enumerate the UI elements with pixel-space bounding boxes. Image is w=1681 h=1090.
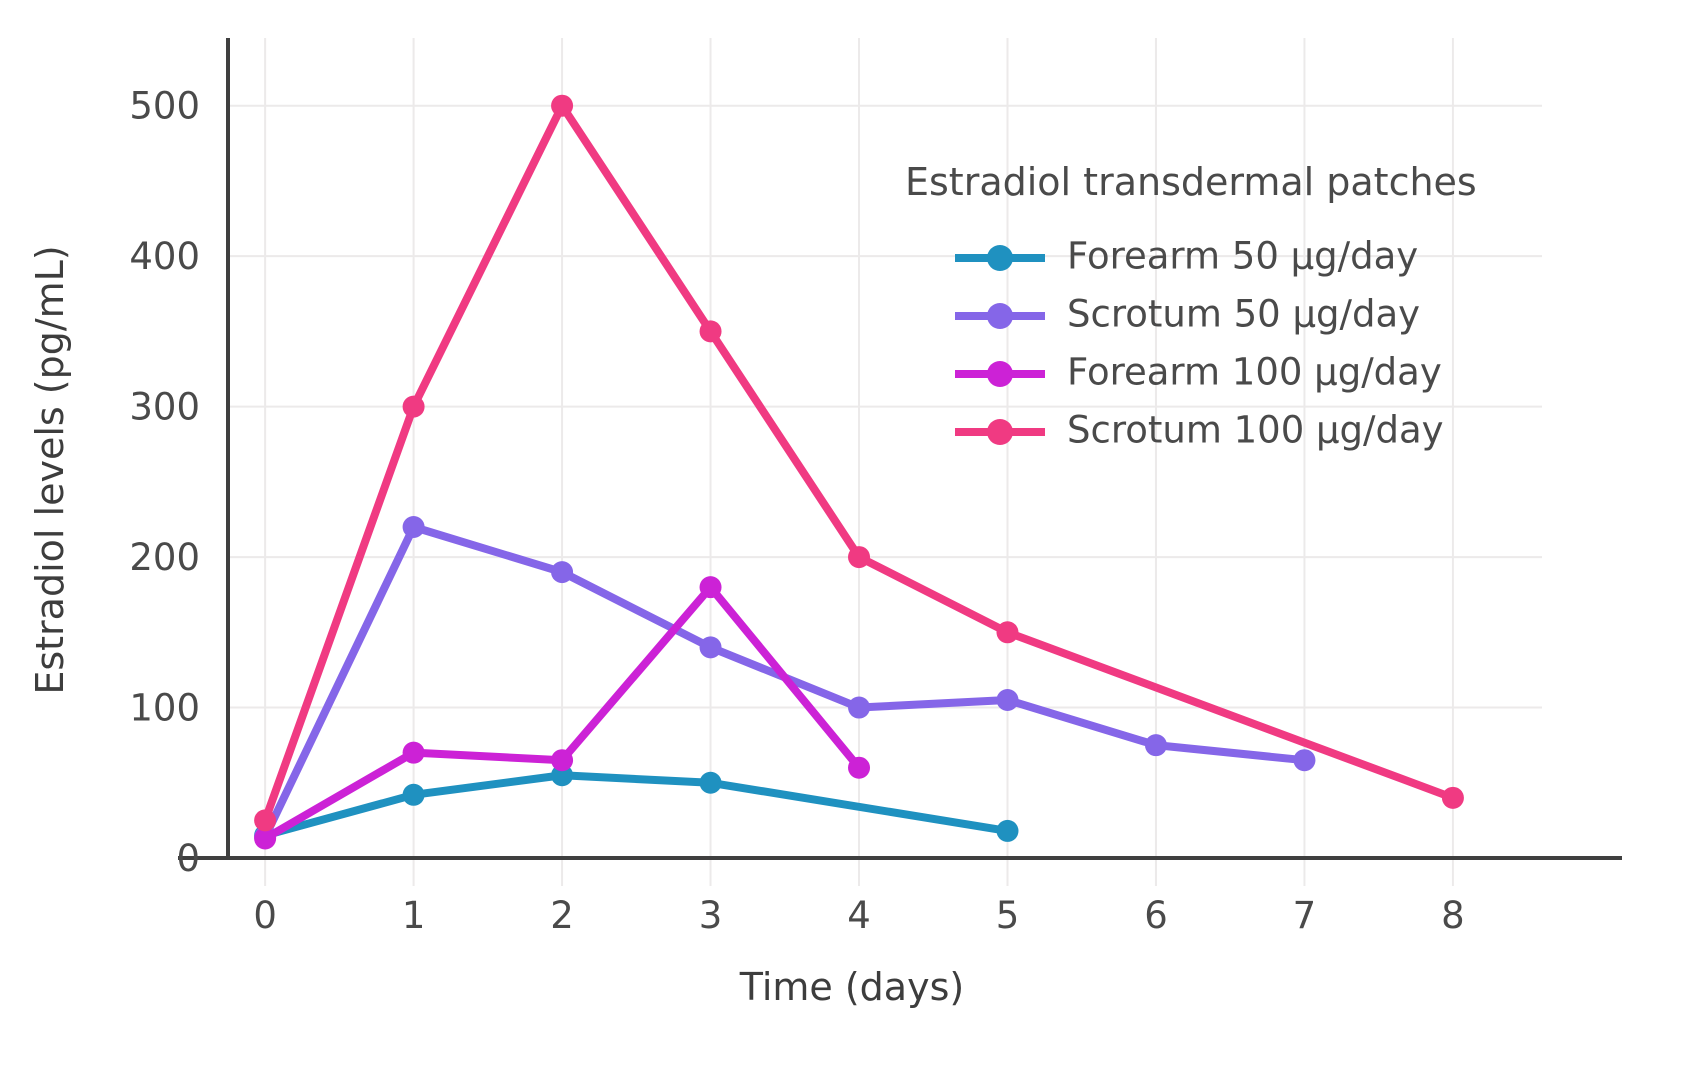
legend-label: Forearm 100 µg/day bbox=[1067, 351, 1442, 394]
legend-marker-swatch bbox=[987, 419, 1013, 445]
x-tick-label: 4 bbox=[847, 894, 871, 937]
x-tick-label: 2 bbox=[550, 894, 574, 937]
y-tick-label: 0 bbox=[176, 837, 200, 880]
x-tick-labels: 012345678 bbox=[253, 894, 1464, 937]
data-point-marker bbox=[996, 689, 1018, 711]
data-point-marker bbox=[700, 320, 722, 342]
legend-label: Scrotum 50 µg/day bbox=[1067, 293, 1420, 336]
data-point-marker bbox=[551, 749, 573, 771]
x-axis-title: Time (days) bbox=[739, 965, 964, 1009]
legend-entry[interactable]: Scrotum 100 µg/day bbox=[955, 409, 1444, 452]
data-point-marker bbox=[700, 636, 722, 658]
y-tick-label: 300 bbox=[129, 386, 200, 429]
series-line bbox=[265, 775, 1007, 835]
data-point-marker bbox=[403, 516, 425, 538]
legend-entry[interactable]: Forearm 100 µg/day bbox=[955, 351, 1442, 394]
x-tick-label: 3 bbox=[699, 894, 723, 937]
data-point-marker bbox=[403, 396, 425, 418]
y-tick-label: 200 bbox=[129, 536, 200, 579]
data-point-marker bbox=[700, 772, 722, 794]
legend-title: Estradiol transdermal patches bbox=[905, 160, 1477, 204]
y-tick-label: 500 bbox=[129, 85, 200, 128]
legend-label: Scrotum 100 µg/day bbox=[1067, 409, 1444, 452]
data-point-marker bbox=[848, 546, 870, 568]
data-point-marker bbox=[254, 809, 276, 831]
data-point-marker bbox=[848, 697, 870, 719]
x-tick-label: 5 bbox=[996, 894, 1020, 937]
x-tick-label: 1 bbox=[402, 894, 426, 937]
data-point-marker bbox=[551, 561, 573, 583]
x-tick-label: 0 bbox=[253, 894, 277, 937]
legend-entries: Forearm 50 µg/dayScrotum 50 µg/dayForear… bbox=[955, 235, 1444, 452]
data-point-marker bbox=[996, 820, 1018, 842]
legend: Estradiol transdermal patches Forearm 50… bbox=[905, 160, 1477, 452]
line-chart: 0100200300400500 012345678 Estradiol lev… bbox=[0, 0, 1681, 1090]
data-point-marker bbox=[1442, 787, 1464, 809]
y-tick-label: 100 bbox=[129, 687, 200, 730]
legend-entry[interactable]: Scrotum 50 µg/day bbox=[955, 293, 1420, 336]
y-tick-label: 400 bbox=[129, 235, 200, 278]
chart-container: 0100200300400500 012345678 Estradiol lev… bbox=[0, 0, 1681, 1090]
x-tick-label: 7 bbox=[1293, 894, 1317, 937]
x-tick-label: 8 bbox=[1441, 894, 1465, 937]
data-point-marker bbox=[1293, 749, 1315, 771]
legend-marker-swatch bbox=[987, 361, 1013, 387]
data-point-marker bbox=[848, 757, 870, 779]
data-point-marker bbox=[403, 742, 425, 764]
y-axis-title: Estradiol levels (pg/mL) bbox=[28, 245, 72, 694]
y-tick-labels: 0100200300400500 bbox=[129, 85, 200, 880]
legend-entry[interactable]: Forearm 50 µg/day bbox=[955, 235, 1418, 278]
data-point-marker bbox=[1145, 734, 1167, 756]
legend-label: Forearm 50 µg/day bbox=[1067, 235, 1418, 278]
data-point-marker bbox=[700, 576, 722, 598]
data-point-marker bbox=[403, 784, 425, 806]
x-tick-label: 6 bbox=[1144, 894, 1168, 937]
data-point-marker bbox=[551, 95, 573, 117]
legend-marker-swatch bbox=[987, 245, 1013, 271]
legend-marker-swatch bbox=[987, 303, 1013, 329]
data-point-marker bbox=[996, 621, 1018, 643]
